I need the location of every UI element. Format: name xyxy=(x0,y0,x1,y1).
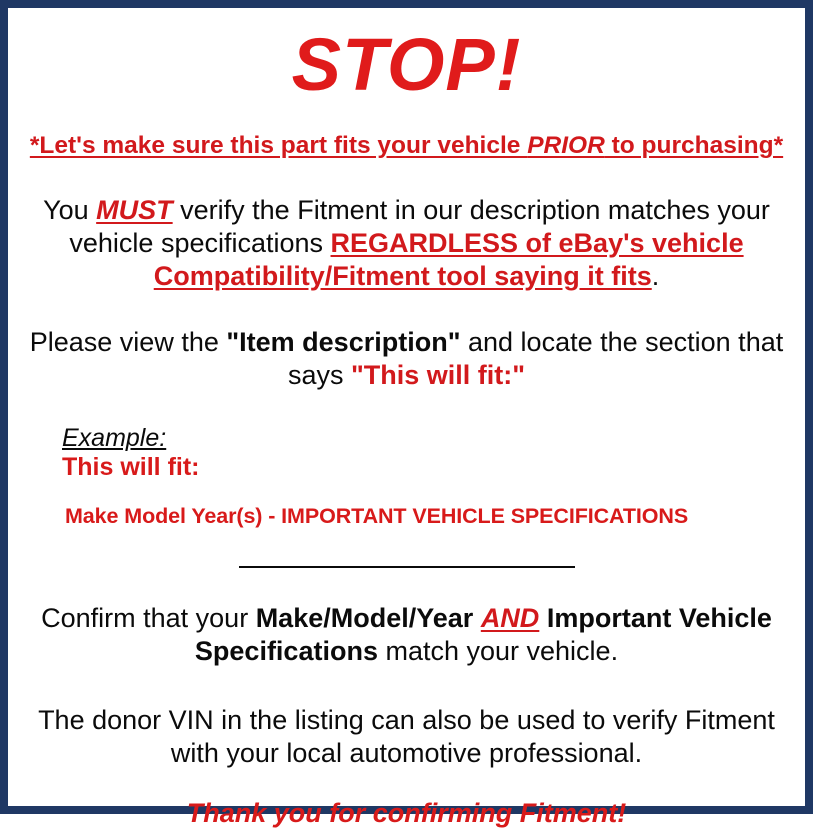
fitment-notice-card: STOP! *Let's make sure this part fits yo… xyxy=(0,0,813,814)
example-block: Example: This will fit: Make Model Year(… xyxy=(14,392,799,529)
must-emphasis: MUST xyxy=(96,195,173,225)
example-label: Example: xyxy=(62,424,166,452)
horizontal-divider xyxy=(239,566,575,568)
tagline-prior-emphasis: PRIOR xyxy=(527,132,605,159)
confirm-seg-3 xyxy=(539,603,547,633)
example-specification-line: Make Model Year(s) - IMPORTANT VEHICLE S… xyxy=(62,481,799,529)
item-description-emphasis: "Item description" xyxy=(226,327,460,357)
make-model-year-emphasis: Make/Model/Year xyxy=(256,603,474,633)
example-this-will-fit-line: This will fit: xyxy=(62,452,799,482)
tagline-pre-text: *Let's make sure this part fits your veh… xyxy=(30,132,527,159)
must-seg-3: . xyxy=(652,261,660,291)
stop-headline: STOP! xyxy=(14,8,799,102)
item-description-paragraph: Please view the "Item description" and l… xyxy=(14,293,799,392)
divider-wrapper xyxy=(14,529,799,576)
tagline-post-text: to purchasing* xyxy=(605,132,783,159)
must-seg-1: You xyxy=(43,195,96,225)
donor-vin-paragraph: The donor VIN in the listing can also be… xyxy=(14,668,799,770)
and-emphasis: AND xyxy=(481,603,540,633)
confirm-seg-4: match your vehicle. xyxy=(378,636,618,666)
must-verify-paragraph: You MUST verify the Fitment in our descr… xyxy=(14,160,799,293)
this-will-fit-emphasis: "This will fit:" xyxy=(351,360,525,390)
example-label-row: Example: xyxy=(62,424,799,452)
thank-you-line: Thank you for confirming Fitment! xyxy=(14,770,799,829)
tagline: *Let's make sure this part fits your veh… xyxy=(14,102,799,160)
confirm-seg-2 xyxy=(473,603,481,633)
confirm-paragraph: Confirm that your Make/Model/Year AND Im… xyxy=(14,576,799,668)
notice-body: STOP! *Let's make sure this part fits yo… xyxy=(8,8,805,806)
confirm-seg-1: Confirm that your xyxy=(41,603,256,633)
desc-seg-1: Please view the xyxy=(30,327,227,357)
